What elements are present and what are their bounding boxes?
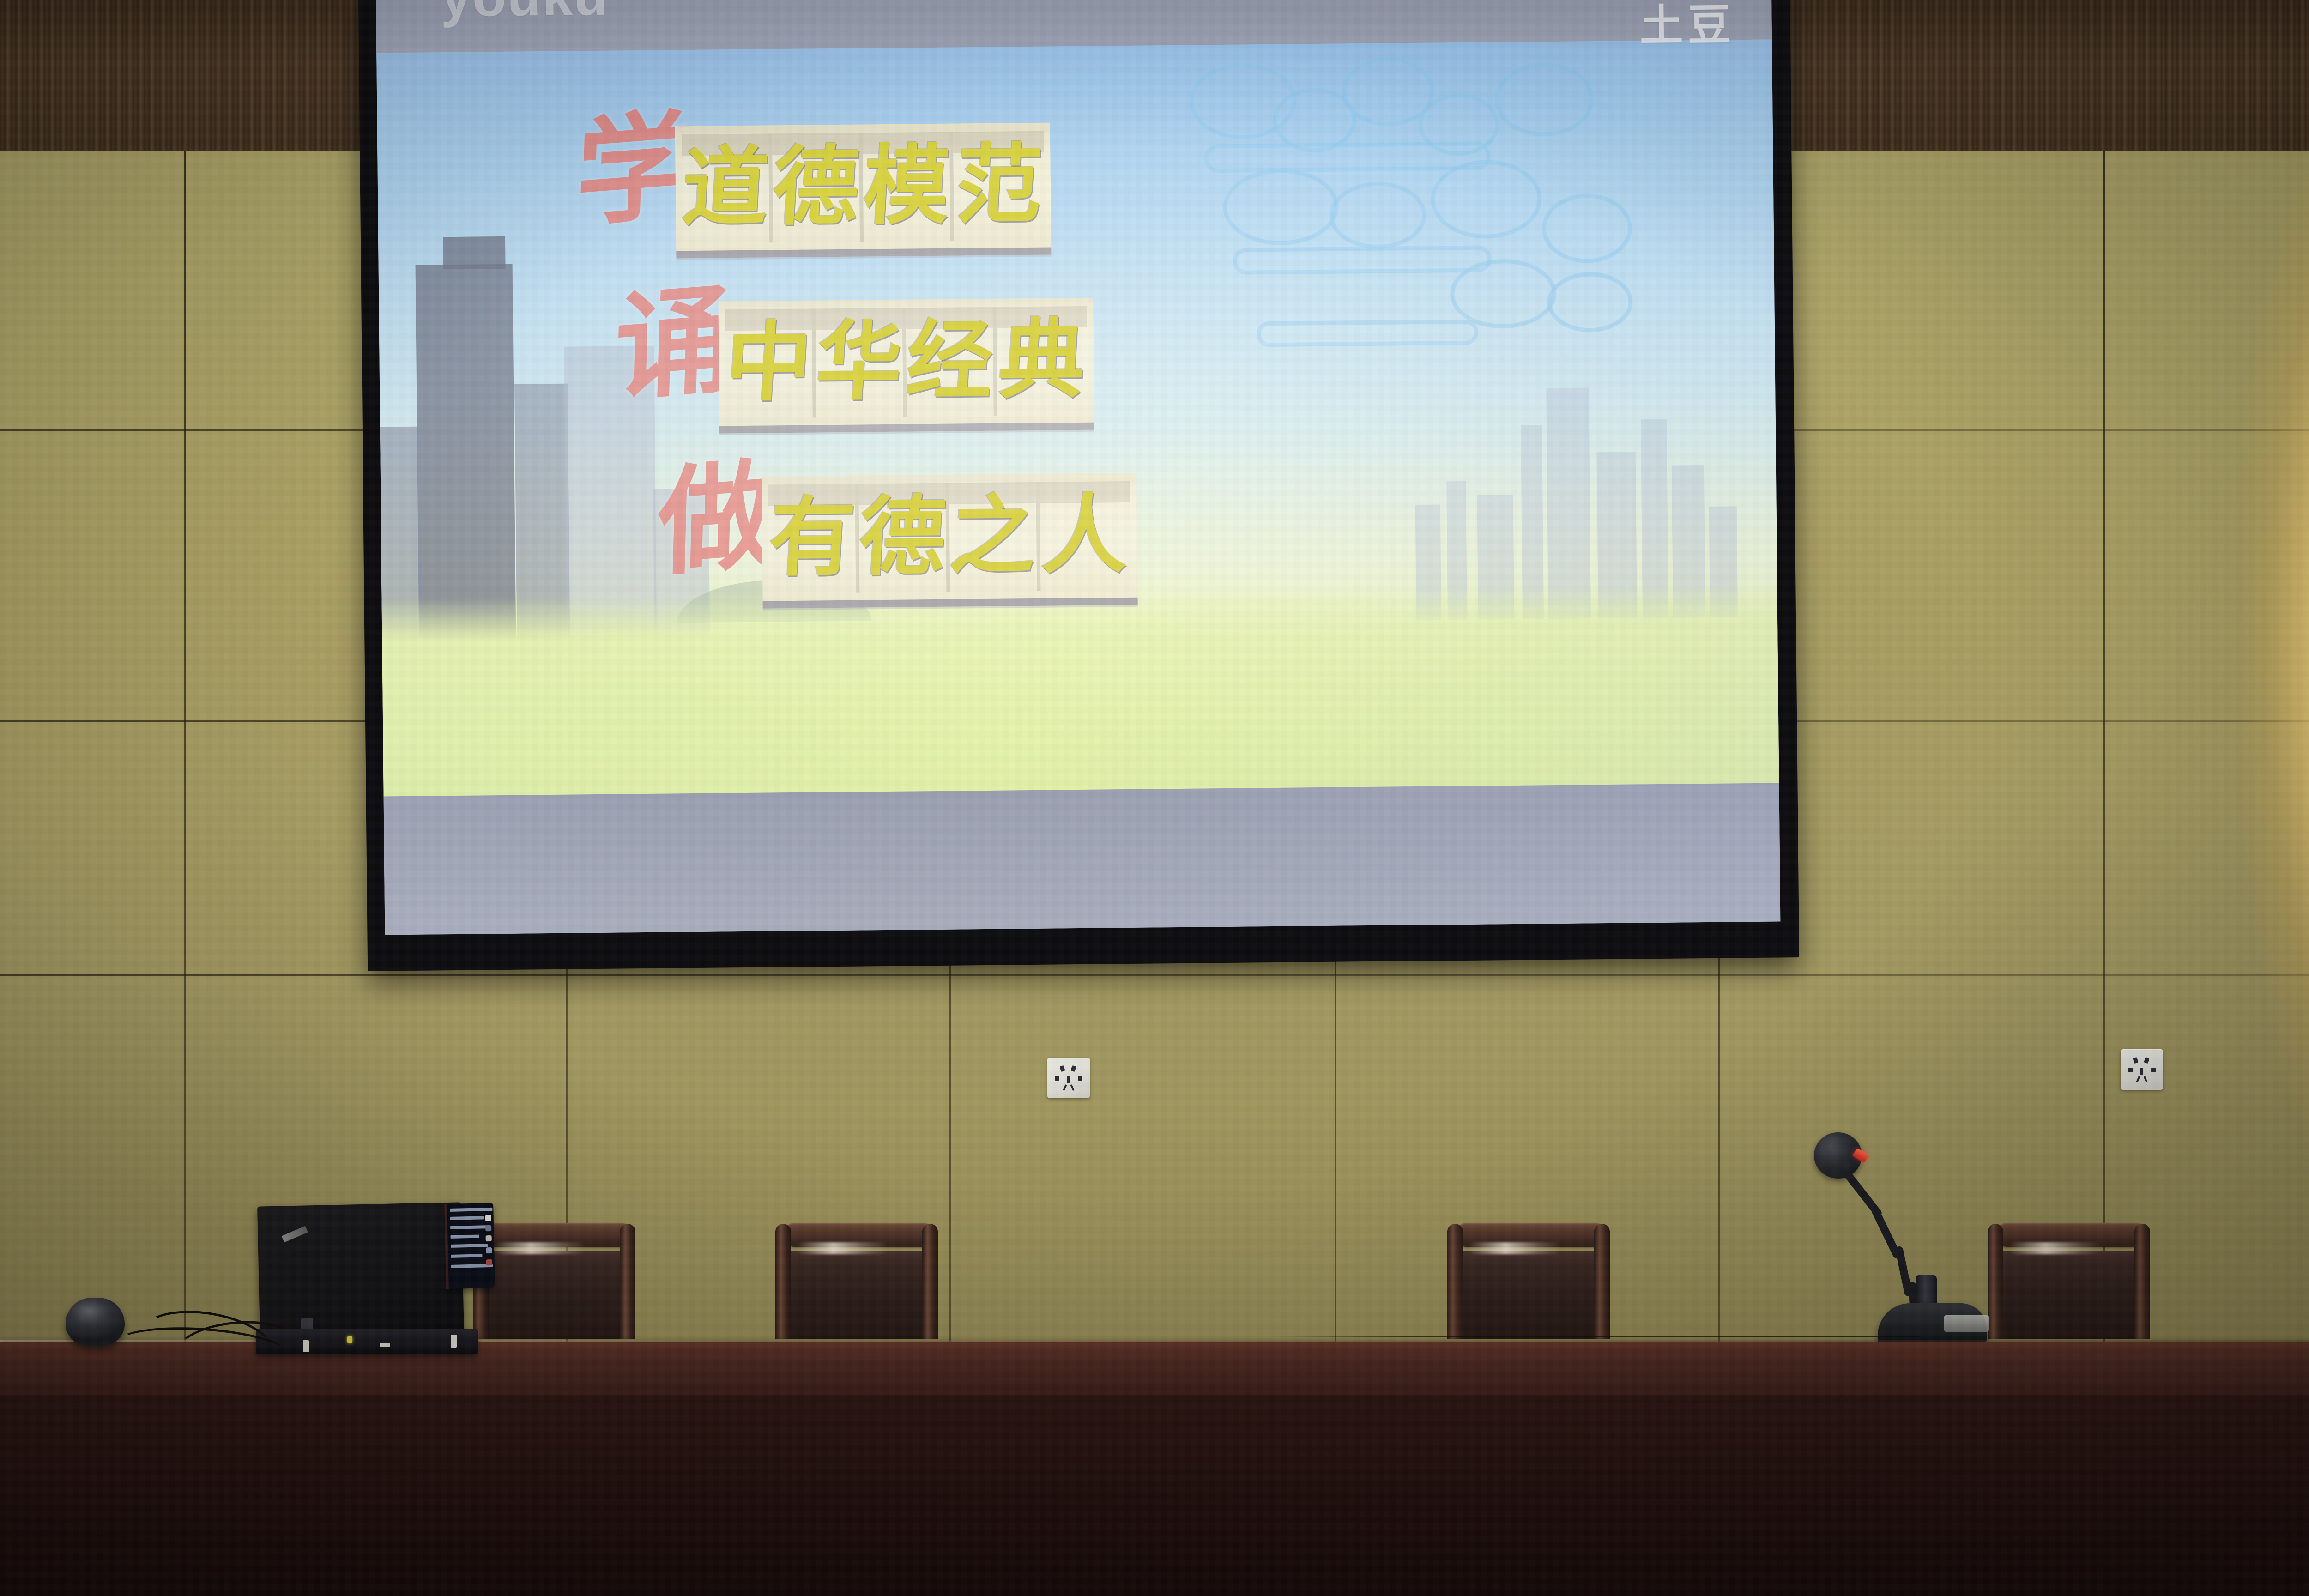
outlet-hole-center: [1067, 1076, 1070, 1083]
laptop-status-led: [380, 1343, 390, 1347]
slide-line-2-plaque: 中 华 经 典: [718, 298, 1094, 434]
chair-post-right: [922, 1224, 938, 1339]
chair-post-left: [1988, 1224, 2003, 1339]
plaque-cell: 模: [863, 132, 954, 242]
thinkpad-laptop[interactable]: [259, 1204, 476, 1353]
thinkpad-logo-icon: [282, 1226, 308, 1243]
chair-highlight: [494, 1242, 586, 1254]
skyline-building-silhouette: [443, 236, 506, 269]
laptop-lid: [257, 1202, 464, 1338]
outlet-hole-left: [1055, 1076, 1059, 1081]
wall-grout-horizontal: [0, 974, 2309, 976]
auspicious-cloud-swirl: [1204, 141, 1491, 173]
plaque-cell: 人: [1040, 481, 1131, 591]
outlet-hole-right: [1078, 1076, 1082, 1081]
slide-line-2-lead-char: 诵: [613, 288, 734, 403]
plaque-cell: 德: [858, 483, 950, 593]
outlet-slot-bottom-right: [2143, 1076, 2147, 1082]
auspicious-cloud-icon: [1547, 272, 1633, 332]
plaque-char: 华: [814, 320, 905, 406]
chair-post-right: [620, 1224, 635, 1339]
outlet-hole-center: [2140, 1068, 2143, 1075]
grass-field: [381, 584, 1779, 796]
plaque-char: 道: [680, 145, 771, 232]
chair-4[interactable]: [1981, 1215, 2157, 1339]
chair-highlight: [1469, 1242, 1561, 1254]
slide-line-2: 诵 中 华 经 典: [614, 254, 1094, 435]
plaque-char: 之: [948, 494, 1039, 580]
plaque-char: 人: [1040, 493, 1131, 580]
power-outlet-left[interactable]: [1047, 1058, 1090, 1098]
screen-text-line: [450, 1216, 484, 1220]
plaque-cell: 中: [725, 308, 816, 418]
plaque-cell: 典: [997, 306, 1088, 416]
outlet-slot-bottom-left: [1063, 1084, 1067, 1091]
auspicious-cloud-swirl: [1257, 320, 1479, 347]
wall-grout-vertical: [184, 151, 186, 1342]
skyline-building-silhouette: [1546, 387, 1591, 619]
video-letterbox-bottom: [384, 783, 1781, 935]
auspicious-cloud-icon: [1223, 169, 1339, 246]
chair-post-right: [1594, 1224, 1610, 1339]
laptop-display-edge: [444, 1203, 495, 1289]
plaque-char: 范: [953, 143, 1044, 230]
slide-line-3-lead-char: 做: [656, 463, 777, 578]
plaque-cell: 有: [768, 484, 859, 594]
chair-post-left: [1447, 1224, 1463, 1339]
plaque-char: 模: [861, 144, 952, 230]
screen-icon: [486, 1247, 492, 1253]
plaque-cell: 道: [682, 133, 773, 243]
plaque-char: 有: [767, 496, 858, 582]
outlet-hole-left: [2128, 1068, 2133, 1072]
projected-slide: 学 道 德 模 范 诵 中 华 经 典: [376, 40, 1779, 797]
microphone-connector-plate: [1944, 1315, 1989, 1332]
plaque-char: 典: [997, 318, 1088, 405]
auspicious-cloud-icon: [1450, 259, 1557, 329]
plaque-cell: 范: [953, 131, 1045, 241]
plaque-char: 德: [857, 495, 948, 581]
chair-backrest: [1460, 1251, 1599, 1339]
projection-screen-frame: 学 道 德 模 范 诵 中 华 经 典: [358, 0, 1799, 971]
screen-text-line: [450, 1208, 492, 1212]
chair-2[interactable]: [769, 1215, 944, 1339]
screen-icon: [485, 1215, 491, 1221]
screen-icon: [485, 1225, 491, 1231]
screen-icon: [486, 1259, 492, 1265]
chair-post-right: [2134, 1224, 2150, 1339]
outlet-slot-top-left: [1059, 1065, 1065, 1072]
chair-post-left: [775, 1224, 791, 1339]
outlet-slot-bottom-right: [1070, 1084, 1074, 1091]
auspicious-cloud-icon: [1541, 193, 1632, 263]
laptop-power-led: [347, 1336, 352, 1343]
screen-text-line: [450, 1225, 490, 1229]
outlet-slot-bottom-left: [2136, 1076, 2140, 1082]
screen-text-line: [451, 1235, 479, 1239]
mic-cable: [1275, 1336, 1921, 1337]
chair-highlight: [2009, 1242, 2101, 1254]
auspicious-cloud-icon: [1494, 62, 1594, 137]
plaque-cell: 之: [949, 482, 1040, 592]
slide-line-3: 做 有 德 之 人: [657, 429, 1138, 610]
auspicious-cloud-icon: [1329, 181, 1427, 249]
screen-icon: [486, 1235, 492, 1241]
conference-table-front-panel: [0, 1395, 2309, 1596]
plaque-cell: 华: [816, 308, 907, 418]
screen-text-line: [451, 1254, 482, 1257]
auspicious-cloud-icon: [1430, 159, 1542, 239]
plaque-cell: 经: [906, 307, 997, 417]
slide-line-1-plaque: 道 德 模 范: [675, 123, 1052, 259]
chair-highlight: [797, 1242, 889, 1254]
conference-room-scene: 学 道 德 模 范 诵 中 华 经 典: [0, 0, 2309, 1596]
laptop-status-led: [303, 1340, 309, 1352]
outlet-hole-right: [2151, 1068, 2156, 1072]
slide-line-1: 学 道 德 模 范: [575, 81, 1052, 260]
outlet-slot-top-right: [2144, 1057, 2149, 1064]
chair-backrest: [486, 1251, 624, 1339]
plaque-cell: 德: [772, 133, 864, 242]
plaque-char: 经: [904, 319, 995, 405]
computer-mouse[interactable]: [66, 1298, 125, 1346]
conference-microphone[interactable]: [1792, 1122, 1967, 1353]
chair-3[interactable]: [1441, 1215, 1616, 1339]
skyline-building-silhouette: [416, 264, 516, 644]
power-outlet-right[interactable]: [2121, 1049, 2163, 1090]
screen-text-line: [451, 1244, 488, 1248]
wall-grout-vertical: [2103, 151, 2105, 1342]
plaque-char: 德: [770, 144, 861, 231]
plaque-char: 中: [723, 320, 814, 407]
outlet-slot-top-left: [2133, 1057, 2138, 1064]
chair-backrest: [2001, 1251, 2139, 1339]
auspicious-cloud-swirl: [1233, 245, 1492, 274]
projection-screen-surface: 学 道 德 模 范 诵 中 华 经 典: [376, 0, 1780, 935]
slide-line-3-plaque: 有 德 之 人: [762, 473, 1138, 609]
outlet-slot-top-right: [1070, 1065, 1076, 1072]
chair-backrest: [788, 1251, 927, 1339]
laptop-status-led: [451, 1335, 457, 1348]
